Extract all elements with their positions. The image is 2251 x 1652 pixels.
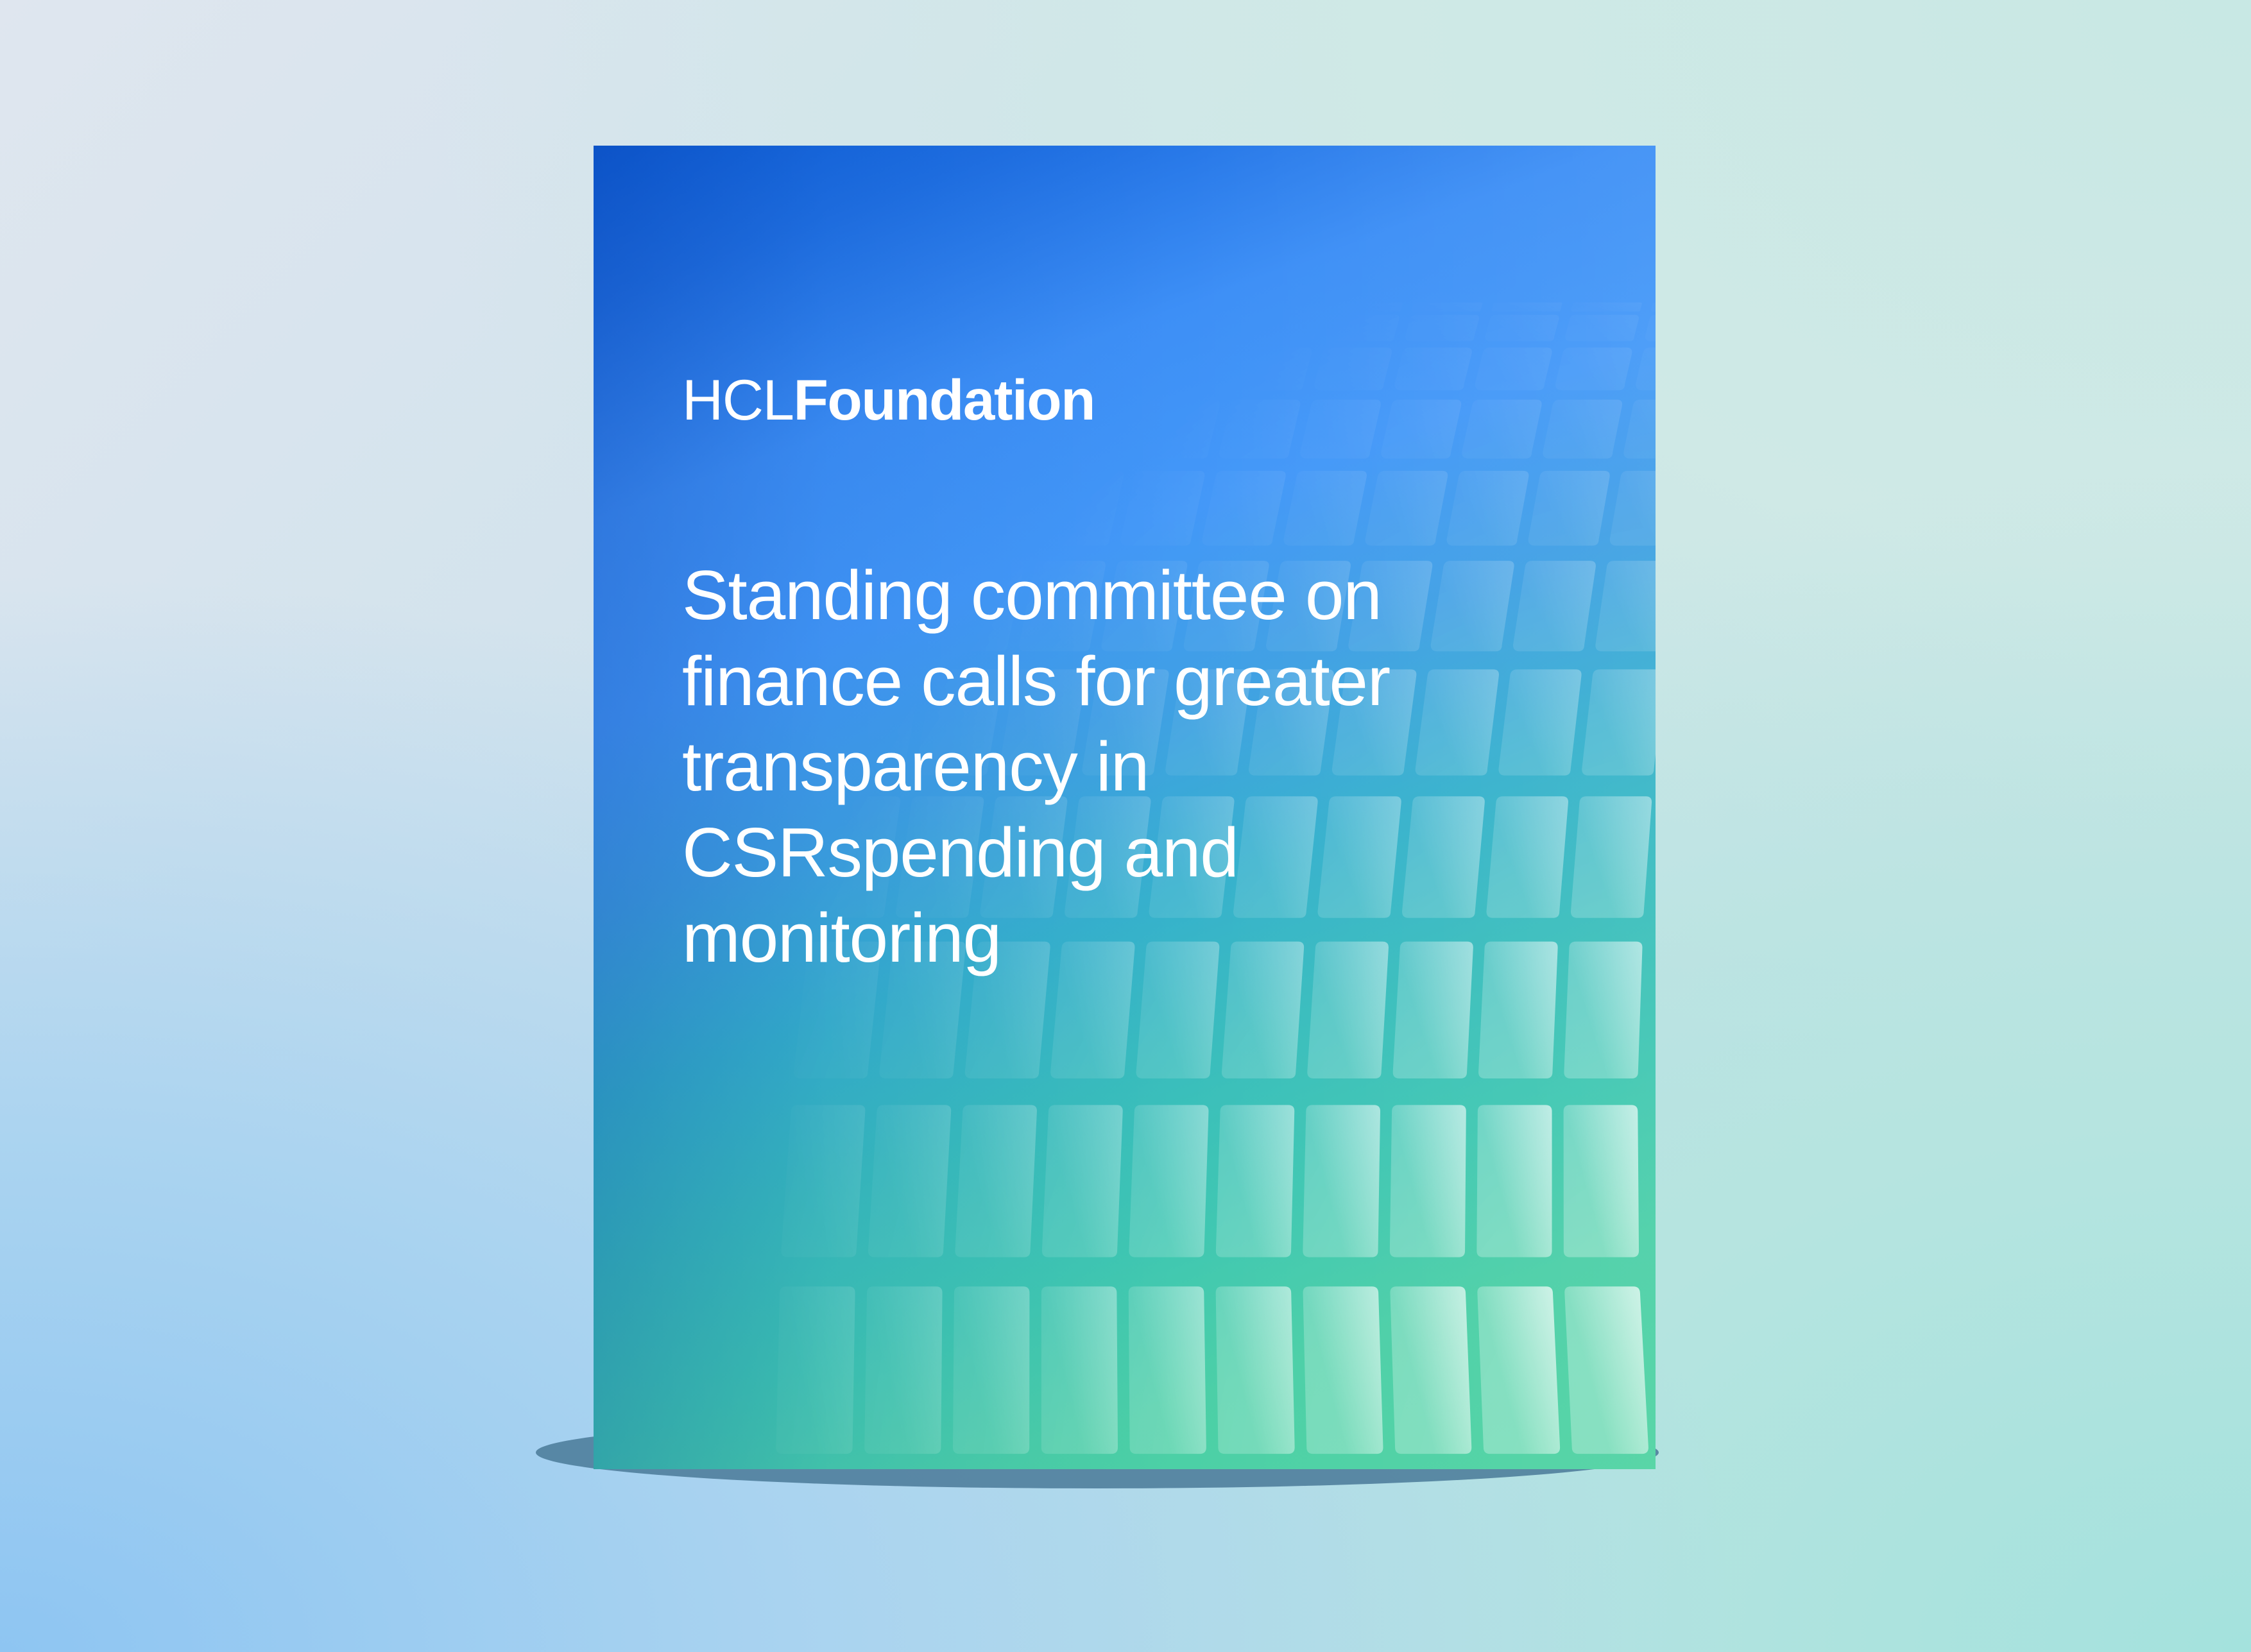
- headline-line-3: transparency in: [682, 724, 1536, 810]
- brand-logo-bold: Foundation: [794, 368, 1095, 432]
- poster-card: HCLFoundation Standing committee on fina…: [594, 146, 1656, 1469]
- headline-line-2: finance calls for greater: [682, 639, 1536, 725]
- brand-logo-light: HCL: [682, 368, 794, 432]
- brand-logo: HCLFoundation: [682, 371, 1095, 429]
- headline-line-4: CSRspending and: [682, 810, 1536, 896]
- headline-line-1: Standing committee on: [682, 553, 1536, 639]
- headline-line-5: monitoring: [682, 896, 1536, 982]
- poster-headline: Standing committee on finance calls for …: [682, 553, 1536, 982]
